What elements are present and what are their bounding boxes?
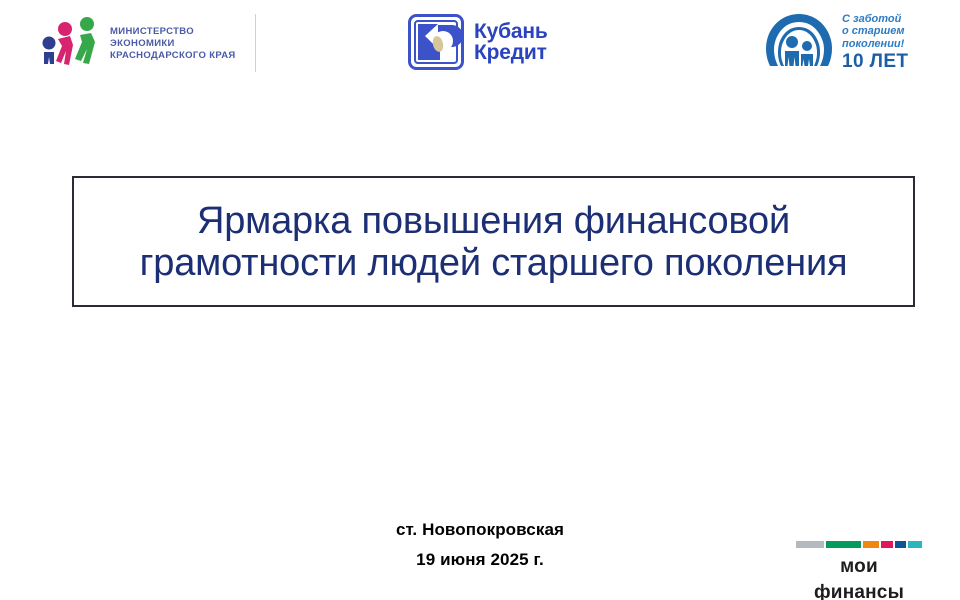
color-band-blue: [718, 308, 870, 393]
care-line-3: поколении!: [842, 38, 908, 51]
color-band-orange: [477, 308, 610, 393]
kuban-kredit-logo-text: Кубань Кредит: [474, 21, 548, 63]
mini-band-segment: [863, 541, 880, 548]
care-line-1: С заботой: [842, 13, 908, 26]
moi-finansy-color-band: [796, 541, 922, 548]
care-line-2: о старшем: [842, 25, 908, 38]
title-box: Ярмарка повышения финансовой грамотности…: [72, 176, 915, 307]
sheltering-hands-family-icon: [762, 10, 836, 74]
care-10-years-logo: С заботой о старшем поколении! 10 ЛЕТ: [762, 8, 908, 76]
page-title: Ярмарка повышения финансовой грамотности…: [74, 200, 913, 284]
ministry-line-3: КРАСНОДАРСКОГО КРАЯ: [110, 50, 236, 61]
mini-band-segment: [895, 541, 906, 548]
color-band-pink: [616, 308, 712, 393]
ministry-logo: МИНИСТЕРСТВО ЭКОНОМИКИ КРАСНОДАРСКОГО КР…: [40, 12, 270, 74]
mini-band-segment: [796, 541, 824, 548]
kuban-kredit-line-1: Кубань: [474, 21, 548, 42]
ministry-line-2: ЭКОНОМИКИ: [110, 38, 236, 49]
ministry-line-1: МИНИСТЕРСТВО: [110, 26, 236, 37]
moi-finansy-logo: мои финансы: [793, 541, 927, 587]
ministry-figures-icon: [40, 17, 102, 69]
mini-band-segment: [908, 541, 922, 548]
moi-finansy-wordmark: мои финансы: [793, 548, 925, 600]
kuban-kredit-line-2: Кредит: [474, 42, 548, 63]
care-years-label: 10 ЛЕТ: [842, 50, 908, 73]
color-band-green: [206, 308, 471, 393]
mini-band-segment: [826, 541, 861, 548]
presentation-slide: МИНИСТЕРСТВО ЭКОНОМИКИ КРАСНОДАРСКОГО КР…: [0, 0, 960, 600]
ministry-logo-text: МИНИСТЕРСТВО ЭКОНОМИКИ КРАСНОДАРСКОГО КР…: [110, 26, 236, 61]
color-band-teal: [917, 245, 960, 393]
kuban-kredit-logo: Кубань Кредит: [408, 10, 548, 74]
kuban-kredit-mark-icon: [408, 14, 464, 70]
mini-band-segment: [881, 541, 893, 548]
header-logo-row: МИНИСТЕРСТВО ЭКОНОМИКИ КРАСНОДАРСКОГО КР…: [0, 0, 960, 92]
care-logo-text: С заботой о старшем поколении! 10 ЛЕТ: [842, 11, 908, 74]
header-divider: [255, 14, 256, 72]
